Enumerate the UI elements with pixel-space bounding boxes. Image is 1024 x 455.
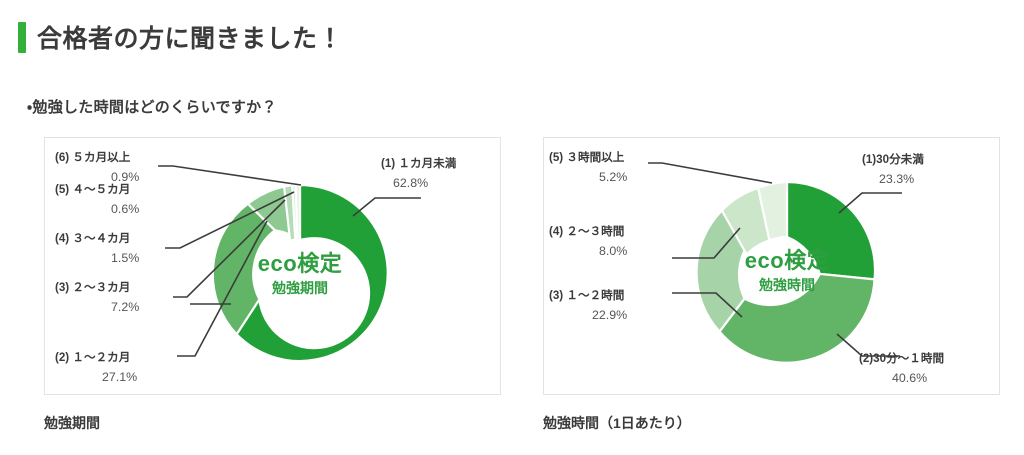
callout-1-right: (1)30分未満 23.3%: [862, 152, 924, 186]
chart-panel-study-time: (1)30分未満 23.3% (2)30分～１時間 40.6% (3) １～２時…: [543, 137, 1000, 395]
page-title-text: 合格者の方に聞きました！: [37, 19, 343, 55]
slice-1-percent: 62.8%: [393, 176, 428, 190]
callout-2-left: (2) １～２カ月 27.1%: [55, 351, 137, 384]
slice-1-percent: 23.3%: [879, 172, 914, 186]
slice-4-percent: 8.0%: [599, 244, 627, 258]
slice-2-percent: 40.6%: [892, 371, 927, 385]
callout-4-right: (4) ２～３時間 8.0%: [549, 224, 627, 258]
donut-slice-6: [296, 185, 300, 240]
center-title: eco検定: [258, 251, 342, 276]
slice-3-percent: 7.2%: [111, 300, 139, 314]
slice-5-label: (5) ４～５カ月: [55, 183, 130, 196]
chart-caption-study-time: 勉強時間（1日あたり）: [543, 413, 691, 433]
slice-2-percent: 27.1%: [102, 370, 137, 384]
callout-5-right: (5) ３時間以上 5.2%: [549, 150, 627, 184]
callout-5-left: (5) ４～５カ月 0.6%: [55, 183, 139, 216]
center-subtitle: 勉強時間: [758, 277, 815, 293]
donut-center-label-left: eco検定 勉強期間: [258, 251, 342, 296]
slice-3-percent: 22.9%: [592, 308, 627, 322]
slice-4-label: (4) ２～３時間: [549, 224, 624, 238]
slice-3-label: (3) １～２時間: [549, 288, 624, 302]
slice-4-label: (4) ３～４カ月: [55, 232, 130, 245]
slice-3-label: (3) ２～３カ月: [55, 281, 130, 294]
center-subtitle: 勉強期間: [271, 280, 328, 296]
callout-3-left: (3) ２～３カ月 7.2%: [55, 281, 139, 314]
callout-1-left: (1) １カ月未満 62.8%: [381, 156, 457, 190]
slice-1-label: (1) １カ月未満: [381, 156, 457, 170]
leader-line-6: [158, 166, 301, 185]
center-title: eco検定: [745, 248, 829, 273]
chart-caption-study-period: 勉強期間: [44, 413, 100, 433]
chart-panel-study-period: (1) １カ月未満 62.8% (2) １～２カ月 27.1% (3) ２～３カ…: [44, 137, 501, 395]
callout-6-left: (6) ５カ月以上 0.9%: [55, 150, 139, 184]
title-accent-bar: [18, 22, 26, 53]
slice-4-percent: 1.5%: [111, 251, 139, 265]
page-root: 合格者の方に聞きました！ ・勉強した時間はどのくらいですか？: [0, 0, 1024, 455]
slice-5-percent: 5.2%: [599, 170, 627, 184]
slice-2-label: (2)30分～１時間: [859, 351, 944, 365]
callout-2-right: (2)30分～１時間 40.6%: [859, 351, 944, 385]
callout-3-right: (3) １～２時間 22.9%: [549, 288, 627, 322]
callout-4-left: (4) ３～４カ月 1.5%: [55, 232, 139, 265]
donut-chart-study-period: (1) １カ月未満 62.8% (2) １～２カ月 27.1% (3) ２～３カ…: [45, 138, 502, 396]
slice-5-percent: 0.6%: [111, 202, 139, 216]
slice-2-label: (2) １～２カ月: [55, 351, 130, 364]
slice-5-label: (5) ３時間以上: [549, 150, 625, 164]
leader-line-5: [648, 163, 772, 183]
slice-1-label: (1)30分未満: [862, 152, 924, 166]
slice-6-percent: 0.9%: [111, 170, 139, 184]
donut-chart-study-time: (1)30分未満 23.3% (2)30分～１時間 40.6% (3) １～２時…: [544, 138, 1001, 396]
question-text: ・勉強した時間はどのくらいですか？: [27, 96, 277, 117]
slice-6-label: (6) ５カ月以上: [55, 150, 131, 164]
page-title: 合格者の方に聞きました！: [18, 17, 343, 57]
